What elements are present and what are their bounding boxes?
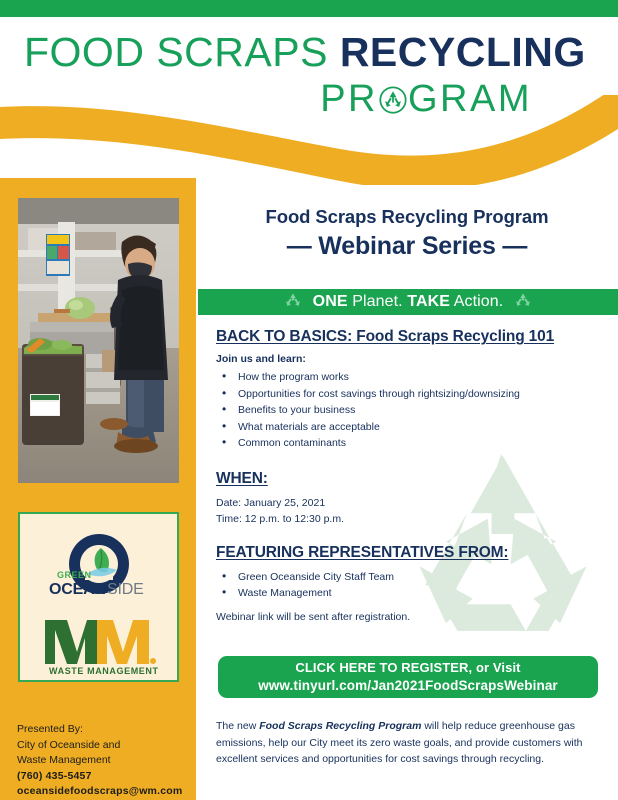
main-content: Food Scraps Recycling Program — Webinar …	[196, 178, 618, 800]
featuring-section: FEATURING REPRESENTATIVES FROM: Green Oc…	[216, 544, 608, 623]
presented-by-line1: City of Oceanside and	[17, 738, 195, 754]
program-description: The new Food Scraps Recycling Program wi…	[216, 718, 606, 768]
green-oceanside-word-green: GREEN	[57, 570, 92, 580]
green-oceanside-word-ocean: OCEAN	[49, 581, 106, 598]
outro-pre: The new	[216, 720, 259, 732]
slogan-text: ONE Planet. TAKE Action.	[313, 292, 504, 312]
webinar-title-line-1: Food Scraps Recycling Program	[196, 204, 618, 230]
recycle-icon	[379, 79, 407, 125]
masthead-food-scraps: FOOD SCRAPS	[24, 29, 340, 75]
slogan-banner: ONE Planet. TAKE Action.	[198, 289, 618, 315]
section-heading-basics: BACK TO BASICS: Food Scraps Recycling 10…	[216, 328, 608, 346]
masthead-line-1: FOOD SCRAPS RECYCLING	[0, 28, 618, 76]
green-oceanside-logo: GREEN OCEAN SIDE	[35, 528, 163, 613]
webinar-title-line-2: — Webinar Series —	[196, 230, 618, 262]
slogan-take: TAKE	[407, 293, 450, 310]
register-button-line-1: CLICK HERE TO REGISTER, or Visit	[295, 659, 520, 677]
presented-by-line2: Waste Management	[17, 753, 195, 769]
wm-tagline: WASTE MANAGEMENT	[49, 666, 159, 676]
when-section: WHEN: Date: January 25, 2021 Time: 12 p.…	[216, 470, 608, 528]
flyer-page: FOOD SCRAPS RECYCLING PRGRAM	[0, 0, 618, 800]
webinar-link-note: Webinar link will be sent after registra…	[216, 611, 608, 623]
left-sidebar: GREEN OCEAN SIDE WASTE MANAGEMENT Presen…	[0, 178, 196, 800]
register-button-url: www.tinyurl.com/Jan2021FoodScrapsWebinar	[258, 677, 558, 695]
list-item: Common contaminants	[220, 435, 608, 452]
waste-management-logo: WASTE MANAGEMENT	[37, 612, 161, 681]
list-item: Benefits to your business	[220, 402, 608, 419]
when-date: Date: January 25, 2021	[216, 495, 608, 512]
outro-emphasis: Food Scraps Recycling Program	[259, 720, 421, 732]
partner-logos-box: GREEN OCEAN SIDE WASTE MANAGEMENT	[18, 512, 179, 682]
list-item: Opportunities for cost savings through r…	[220, 386, 608, 403]
presented-by-label: Presented By:	[17, 722, 195, 738]
content-body: BACK TO BASICS: Food Scraps Recycling 10…	[216, 328, 608, 623]
section-heading-when: WHEN:	[216, 470, 608, 488]
webinar-title: Food Scraps Recycling Program — Webinar …	[196, 204, 618, 262]
masthead-recycling: RECYCLING	[340, 29, 586, 75]
featuring-bullet-list: Green Oceanside City Staff Team Waste Ma…	[220, 569, 608, 602]
contact-email[interactable]: oceansidefoodscraps@wm.com	[17, 784, 195, 800]
list-item: Green Oceanside City Staff Team	[220, 569, 608, 586]
recycle-icon	[285, 292, 301, 313]
masthead: FOOD SCRAPS RECYCLING PRGRAM	[0, 28, 618, 125]
list-item: Waste Management	[220, 585, 608, 602]
recycle-icon	[515, 292, 531, 313]
slogan-one: ONE	[313, 293, 348, 310]
contact-phone[interactable]: (760) 435-5457	[17, 769, 195, 785]
kitchen-photo	[18, 198, 179, 483]
basics-bullet-list: How the program works Opportunities for …	[220, 369, 608, 452]
list-item: What materials are acceptable	[220, 419, 608, 436]
list-item: How the program works	[220, 369, 608, 386]
slogan-planet: Planet.	[348, 293, 408, 310]
top-green-bar	[0, 0, 618, 17]
section-heading-featuring: FEATURING REPRESENTATIVES FROM:	[216, 544, 608, 562]
masthead-program-post: GRAM	[408, 78, 532, 120]
green-oceanside-word-side: SIDE	[107, 581, 144, 598]
when-time: Time: 12 p.m. to 12:30 p.m.	[216, 511, 608, 528]
masthead-line-2: PRGRAM	[0, 76, 618, 125]
masthead-program-pre: PR	[320, 78, 378, 120]
join-us-lead: Join us and learn:	[216, 353, 608, 365]
presented-by-block: Presented By: City of Oceanside and Wast…	[17, 722, 195, 800]
register-button[interactable]: CLICK HERE TO REGISTER, or Visit www.tin…	[218, 656, 598, 698]
slogan-action: Action.	[450, 293, 503, 310]
